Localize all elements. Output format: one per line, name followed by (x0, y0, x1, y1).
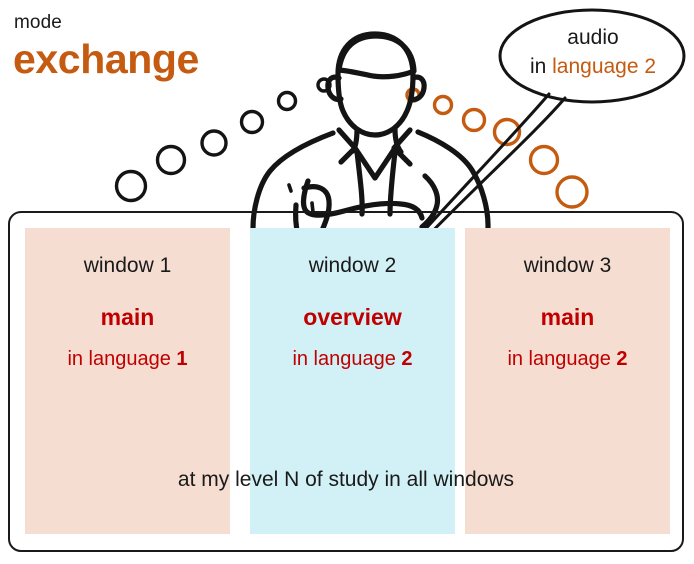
window-panel-1-language-prefix: in language (67, 348, 176, 370)
speech-bubble-line-2-prefix: in (530, 55, 552, 78)
circle-orange-4 (495, 120, 520, 145)
window-panel-1-title: window 1 (25, 254, 230, 278)
speech-bubble-line-1: audio (500, 24, 686, 51)
window-panel-3-language-number: 2 (616, 348, 627, 370)
window-panel-1-language: in language 1 (25, 348, 230, 371)
person-shirt-v (355, 148, 395, 178)
window-panel-2-language: in language 2 (250, 348, 455, 371)
mode-label: mode (14, 12, 62, 34)
window-panel-1-language-number: 1 (176, 348, 187, 370)
circle-black-6 (117, 172, 146, 201)
window-panel-2-language-number: 2 (401, 348, 412, 370)
circle-orange-1 (407, 89, 419, 101)
circle-orange-6 (557, 177, 587, 207)
footer-note: at my level N of study in all windows (8, 468, 684, 492)
window-panel-3-language: in language 2 (465, 348, 670, 371)
speech-bubble-line-2: in language 2 (500, 53, 686, 80)
circle-black-3 (242, 112, 263, 133)
bubbles-left-arc (117, 79, 331, 201)
person-shirt-panel (357, 152, 395, 214)
circle-black-5 (158, 147, 185, 174)
window-panel-3-language-prefix: in language (507, 348, 616, 370)
person-ear-right (411, 77, 424, 99)
window-panel-2-title: window 2 (250, 254, 455, 278)
circle-orange-5 (531, 147, 558, 174)
window-panel-2-role: overview (250, 304, 455, 331)
speech-bubble-line-2-accent: language 2 (552, 55, 656, 78)
circle-black-4 (202, 131, 226, 155)
diagram-canvas: mode exchange (0, 0, 694, 564)
person-collar (339, 130, 410, 164)
window-panel-3-title: window 3 (465, 254, 670, 278)
speech-bubble-text: audio in language 2 (500, 24, 686, 81)
person-ear-left (328, 77, 341, 99)
circle-black-2 (279, 93, 296, 110)
bubbles-right-arc (407, 89, 587, 207)
window-panel-1-role: main (25, 304, 230, 331)
person-neck (353, 129, 401, 152)
mode-name: exchange (13, 36, 199, 83)
person-detail-tick-1 (289, 185, 291, 191)
circle-orange-3 (464, 110, 485, 131)
window-panel-2-language-prefix: in language (292, 348, 401, 370)
circle-black-1 (318, 79, 330, 91)
person-head (338, 34, 413, 135)
person-hair (339, 36, 414, 77)
window-panel-3-role: main (465, 304, 670, 331)
circle-orange-2 (435, 97, 452, 114)
